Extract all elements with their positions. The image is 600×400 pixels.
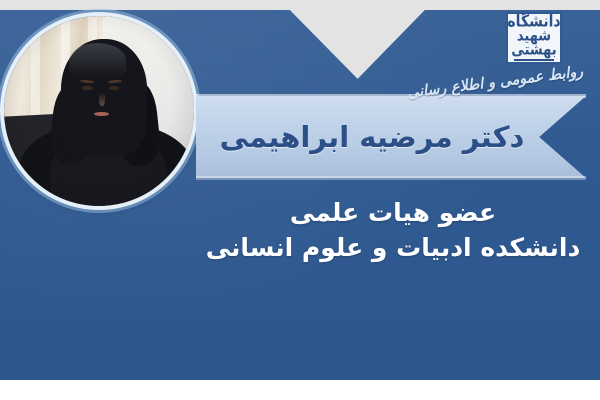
- page-title: دکتر مرضیه ابراهیمی: [196, 96, 548, 178]
- portrait-photo: [4, 16, 194, 206]
- photo-vignette: [4, 16, 194, 206]
- subtitle-line-faculty: دانشکده ادبیات و علوم انسانی: [200, 231, 586, 264]
- subtitle-block: عضو هیات علمی دانشکده ادبیات و علوم انسا…: [200, 196, 586, 264]
- university-logo: دانشگاه شهید بهشتی روابط عمومی و اطلاع ر…: [478, 8, 590, 100]
- logo-mark-icon: دانشگاه شهید بهشتی: [506, 12, 562, 64]
- public-relations-script: روابط عمومی و اطلاع رسانی: [483, 54, 585, 102]
- subtitle-line-position: عضو هیات علمی: [200, 196, 586, 229]
- bottom-white-band: [0, 380, 600, 400]
- avatar: [4, 16, 194, 206]
- announcement-card: دکتر مرضیه ابراهیمی عضو هیات علمی دانشکد…: [0, 0, 600, 400]
- logo-mark-line-3: بهشتی: [511, 43, 556, 58]
